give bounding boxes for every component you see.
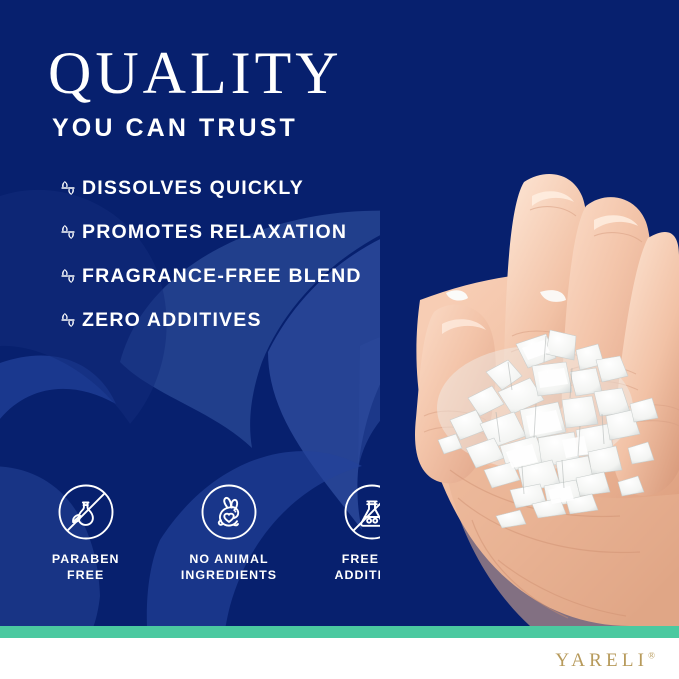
product-photo-hand-with-flakes bbox=[380, 0, 679, 626]
badge-paraben-free: PARABEN FREE bbox=[14, 483, 157, 583]
benefit-label: ZERO ADDITIVES bbox=[82, 309, 262, 332]
cruelty-free-rabbit-heart-icon bbox=[200, 483, 258, 541]
teal-divider-bar bbox=[0, 626, 679, 638]
page-title: QUALITY bbox=[48, 42, 343, 104]
page-subtitle: YOU CAN TRUST bbox=[52, 114, 298, 143]
navy-background-panel: QUALITY YOU CAN TRUST bbox=[0, 0, 679, 626]
registered-trademark-symbol: ® bbox=[648, 651, 655, 661]
benefit-label: PROMOTES RELAXATION bbox=[82, 221, 347, 244]
badge-label: PARABEN FREE bbox=[52, 552, 120, 583]
double-leaf-bullet-icon bbox=[58, 266, 78, 286]
double-leaf-bullet-icon bbox=[58, 310, 78, 330]
badge-no-animal-ingredients: NO ANIMAL INGREDIENTS bbox=[157, 483, 300, 583]
double-leaf-bullet-icon bbox=[58, 178, 78, 198]
product-infographic: QUALITY YOU CAN TRUST bbox=[0, 0, 679, 679]
benefit-label: DISSOLVES QUICKLY bbox=[82, 177, 304, 200]
brand-name: YARELI bbox=[555, 650, 648, 671]
badge-label: NO ANIMAL INGREDIENTS bbox=[181, 552, 277, 583]
double-leaf-bullet-icon bbox=[58, 222, 78, 242]
benefit-label: FRAGRANCE-FREE BLEND bbox=[82, 265, 362, 288]
no-paraben-bottle-leaf-icon bbox=[57, 483, 115, 541]
footer-bar: YARELI® bbox=[0, 638, 679, 679]
brand-logo: YARELI® bbox=[555, 650, 655, 672]
hand-illustration bbox=[380, 0, 679, 626]
